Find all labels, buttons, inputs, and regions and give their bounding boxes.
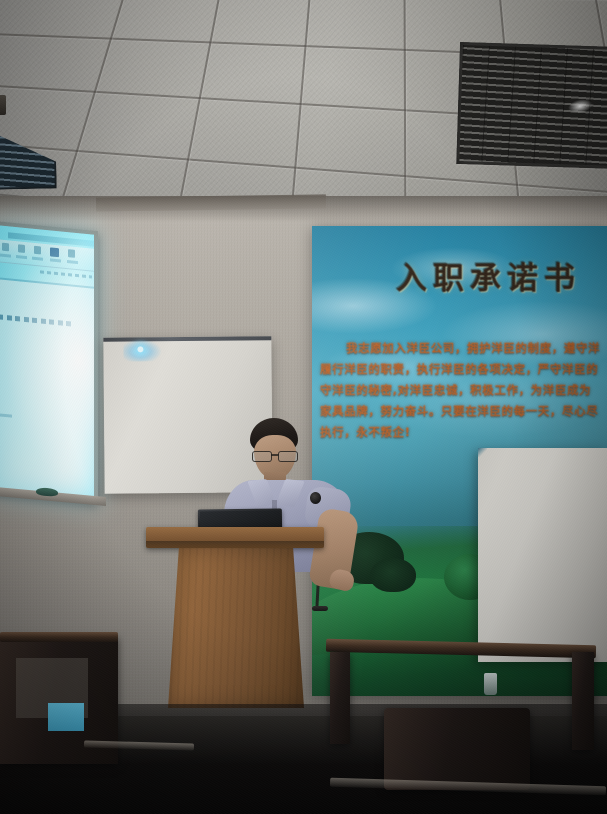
presenter-hand: [328, 567, 356, 592]
eyeglasses-icon: [252, 451, 298, 460]
panel-corner-fold: [478, 448, 487, 457]
right-white-panel: [478, 448, 607, 662]
podium-top-shadow: [146, 541, 324, 550]
chair-post-right: [572, 652, 594, 750]
panel-mount-clip: [0, 95, 6, 115]
hvac-vent-icon: [456, 42, 607, 170]
projector-hotspot: [0, 225, 94, 499]
projection-screen-frame: [0, 221, 98, 503]
status-light-icon: [137, 346, 143, 352]
chair-blue-sticker: [48, 703, 84, 731]
water-bottle: [484, 673, 497, 695]
glasses-lens-left: [252, 451, 272, 462]
projection-screen: [0, 225, 94, 499]
chair-post-left: [330, 652, 350, 744]
lapel-mic-icon: [310, 492, 321, 504]
glasses-lens-right: [278, 451, 298, 462]
podium: [146, 527, 324, 707]
chair-top-rail: [0, 632, 118, 642]
laptop-screen: [200, 510, 280, 526]
podium-wood-grain: [168, 548, 304, 708]
chair-backrest-panel: [384, 708, 530, 790]
photograph-root: 入职承诺书 我志愿加入洋臣公司，拥护洋臣的制度，遵守洋 履行洋臣的职责，执行洋臣…: [0, 0, 607, 814]
podium-body: [168, 548, 304, 708]
